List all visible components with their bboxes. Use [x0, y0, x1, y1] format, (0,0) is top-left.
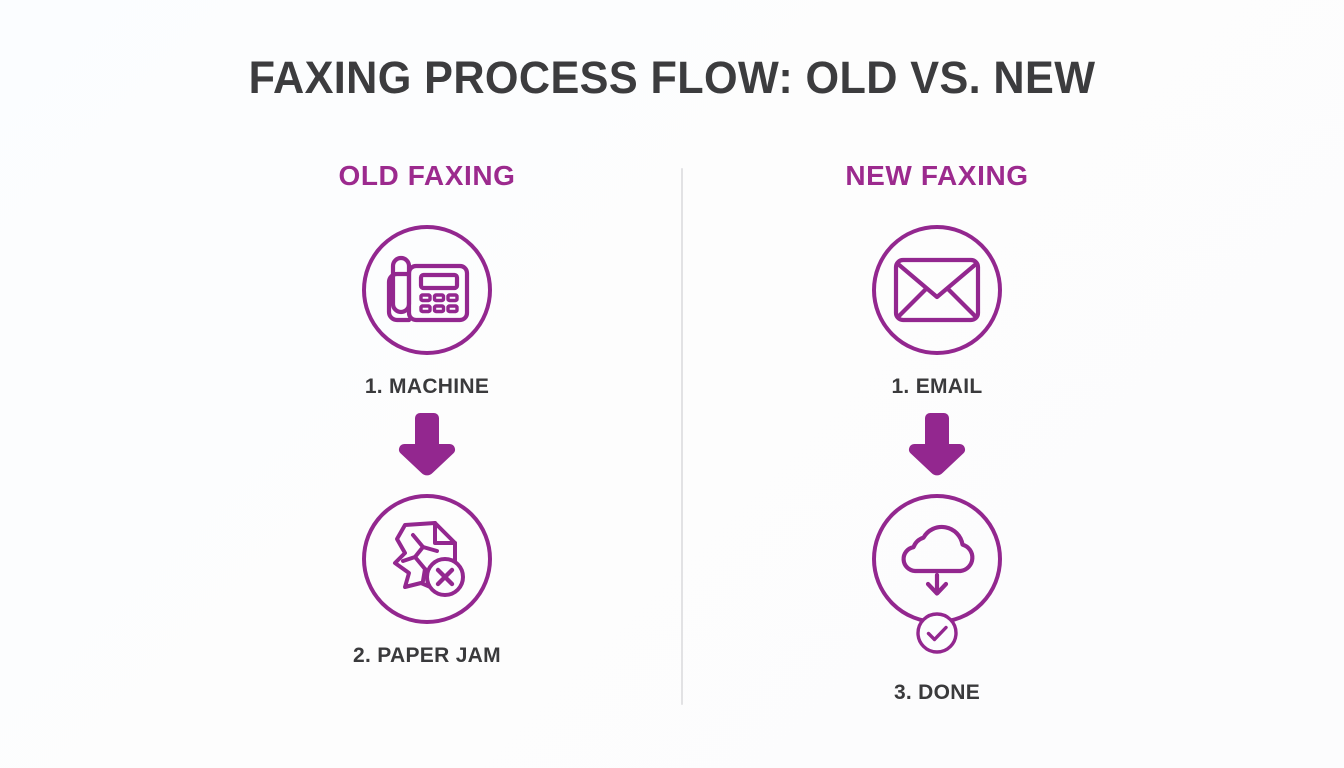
- column-divider: [681, 168, 683, 705]
- done-badge: [914, 610, 960, 661]
- slide-canvas: FAXING PROCESS FLOW: OLD VS. NEW OLD FAX…: [0, 0, 1344, 768]
- down-arrow-glyph: [394, 411, 460, 479]
- step-old-1: 1. MACHINE: [362, 225, 492, 399]
- step-label-new-1: 1. EMAIL: [891, 375, 982, 399]
- envelope-icon: [872, 225, 1002, 355]
- down-arrow-glyph: [904, 411, 970, 479]
- crumpled-paper-glyph: [383, 517, 471, 601]
- step-label-old-1: 1. MACHINE: [365, 375, 489, 399]
- fax-machine-icon: [362, 225, 492, 355]
- step-new-2: 3. DONE: [872, 494, 1002, 705]
- step-label-new-2: 3. DONE: [894, 681, 980, 705]
- down-arrow-icon-new: [904, 411, 970, 484]
- crumpled-paper-error-icon: [362, 494, 492, 624]
- column-new-faxing: NEW FAXING 1. EMAIL: [722, 160, 1152, 705]
- check-circle-icon: [914, 610, 960, 656]
- envelope-glyph: [893, 257, 981, 323]
- column-heading-old: OLD FAXING: [338, 160, 515, 192]
- column-old-faxing: OLD FAXING: [212, 160, 642, 668]
- step-old-2: 2. PAPER JAM: [353, 494, 501, 668]
- cloud-download-icon: [872, 494, 1002, 624]
- column-heading-new: NEW FAXING: [845, 160, 1028, 192]
- cloud-download-glyph: [891, 519, 983, 599]
- page-title: FAXING PROCESS FLOW: OLD VS. NEW: [27, 52, 1317, 104]
- step-new-1: 1. EMAIL: [872, 225, 1002, 399]
- fax-machine-glyph: [381, 250, 473, 330]
- down-arrow-icon-old: [394, 411, 460, 484]
- step-label-old-2: 2. PAPER JAM: [353, 644, 501, 668]
